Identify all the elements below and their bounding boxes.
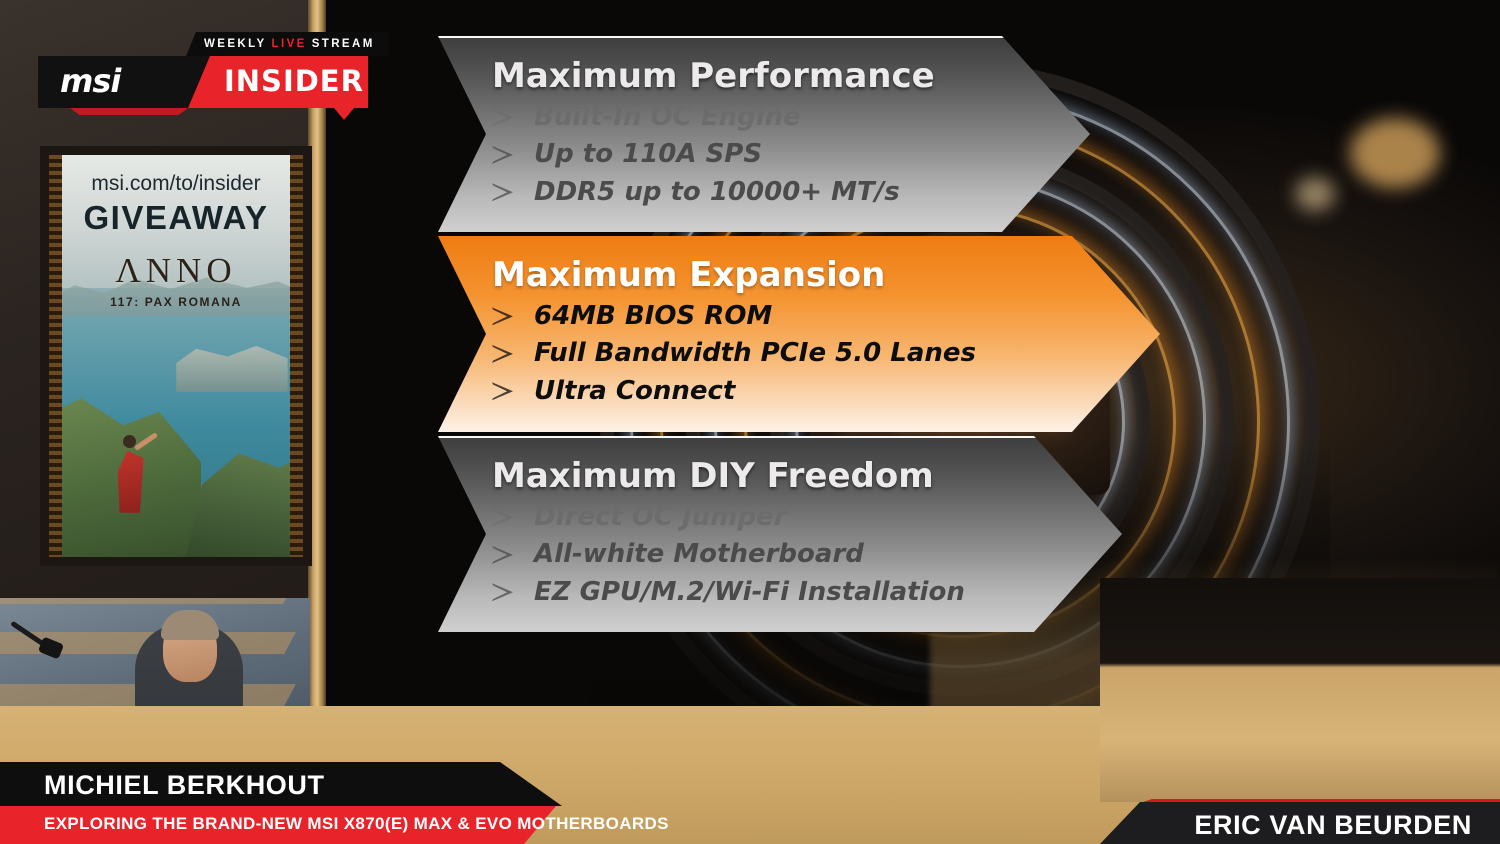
webcam-right-overlay <box>1100 578 1500 802</box>
tagline-weekly: WEEKLY <box>204 38 267 50</box>
banner-3-bullets: Direct OC Jumper All-white Motherboard E… <box>492 499 965 611</box>
banner-maximum-expansion: Maximum Expansion 64MB BIOS ROM Full Ban… <box>350 236 1160 432</box>
bullet-text: DDR5 up to 10000+ MT/s <box>534 174 900 211</box>
bullet-text: Ultra Connect <box>534 373 735 410</box>
poster-game-subtitle: 117: PAX ROMANA <box>49 295 303 309</box>
banner-2-title: Maximum Expansion <box>492 258 976 294</box>
arrow-bullet-icon <box>492 507 516 527</box>
poster-game-title: ΛNNO <box>49 251 303 291</box>
poster-headline: GIVEAWAY <box>49 199 303 237</box>
banner-2-content: Maximum Expansion 64MB BIOS ROM Full Ban… <box>350 258 976 410</box>
bullet-item: EZ GPU/M.2/Wi-Fi Installation <box>492 574 965 611</box>
bullet-item: DDR5 up to 10000+ MT/s <box>492 174 935 211</box>
poster-url: msi.com/to/insider <box>49 172 303 196</box>
banner-1-content: Maximum Performance Built-In OC Engine U… <box>350 59 935 211</box>
bullet-item: Ultra Connect <box>492 373 976 410</box>
giveaway-poster: msi.com/to/insider GIVEAWAY ΛNNO 117: PA… <box>40 146 312 566</box>
msi-insider-logo: WEEKLY LIVE STREAM msi INSIDER <box>38 32 368 118</box>
bullet-text: Up to 110A SPS <box>534 136 762 173</box>
banner-maximum-performance: Maximum Performance Built-In OC Engine U… <box>350 36 1090 232</box>
arrow-bullet-icon <box>492 306 516 326</box>
banner-1-bullets: Built-In OC Engine Up to 110A SPS DDR5 u… <box>492 99 935 211</box>
tagline-live: LIVE <box>272 38 307 50</box>
arrow-bullet-icon <box>492 381 516 401</box>
banner-2-bullets: 64MB BIOS ROM Full Bandwidth PCIe 5.0 La… <box>492 298 976 410</box>
msi-wordmark: msi <box>60 62 120 100</box>
logo-bar: msi INSIDER <box>38 56 368 108</box>
arrow-bullet-icon <box>492 107 516 127</box>
bullet-item: Built-In OC Engine <box>492 99 935 136</box>
bullet-text: Direct OC Jumper <box>534 499 786 536</box>
poster-artwork: msi.com/to/insider GIVEAWAY ΛNNO 117: PA… <box>49 155 303 557</box>
banner-maximum-diy-freedom: Maximum DIY Freedom Direct OC Jumper All… <box>350 436 1122 632</box>
arrow-bullet-icon <box>492 582 516 602</box>
arrow-bullet-icon <box>492 182 516 202</box>
speaker-name-left: MICHIEL BERKHOUT <box>44 770 325 801</box>
bullet-item: Full Bandwidth PCIe 5.0 Lanes <box>492 335 976 372</box>
banner-3-title: Maximum DIY Freedom <box>492 459 965 495</box>
banner-3-content: Maximum DIY Freedom Direct OC Jumper All… <box>350 459 965 611</box>
bullet-text: Full Bandwidth PCIe 5.0 Lanes <box>534 335 976 372</box>
bullet-text: Built-In OC Engine <box>534 99 801 136</box>
bullet-item: 64MB BIOS ROM <box>492 298 976 335</box>
bullet-item: Up to 110A SPS <box>492 136 935 173</box>
logo-underline <box>70 108 188 115</box>
bullet-item: All-white Motherboard <box>492 536 965 573</box>
banner-1-title: Maximum Performance <box>492 59 935 95</box>
bullet-text: All-white Motherboard <box>534 536 864 573</box>
bullet-text: EZ GPU/M.2/Wi-Fi Installation <box>534 574 965 611</box>
speaker-name-right: ERIC VAN BEURDEN <box>1194 810 1472 841</box>
studio-stripe-1 <box>0 598 297 604</box>
bullet-text: 64MB BIOS ROM <box>534 298 772 335</box>
arrow-bullet-icon <box>492 545 516 565</box>
webcam-left-person-hair <box>161 610 219 640</box>
arrow-bullet-icon <box>492 145 516 165</box>
arrow-bullet-icon <box>492 344 516 364</box>
stream-overlay-stage: MAX WEEKLY LIVE STREAM msi INSIDER <box>0 0 1500 844</box>
episode-topic: EXPLORING THE BRAND-NEW MSI X870(E) MAX … <box>44 814 669 834</box>
bullet-item: Direct OC Jumper <box>492 499 965 536</box>
